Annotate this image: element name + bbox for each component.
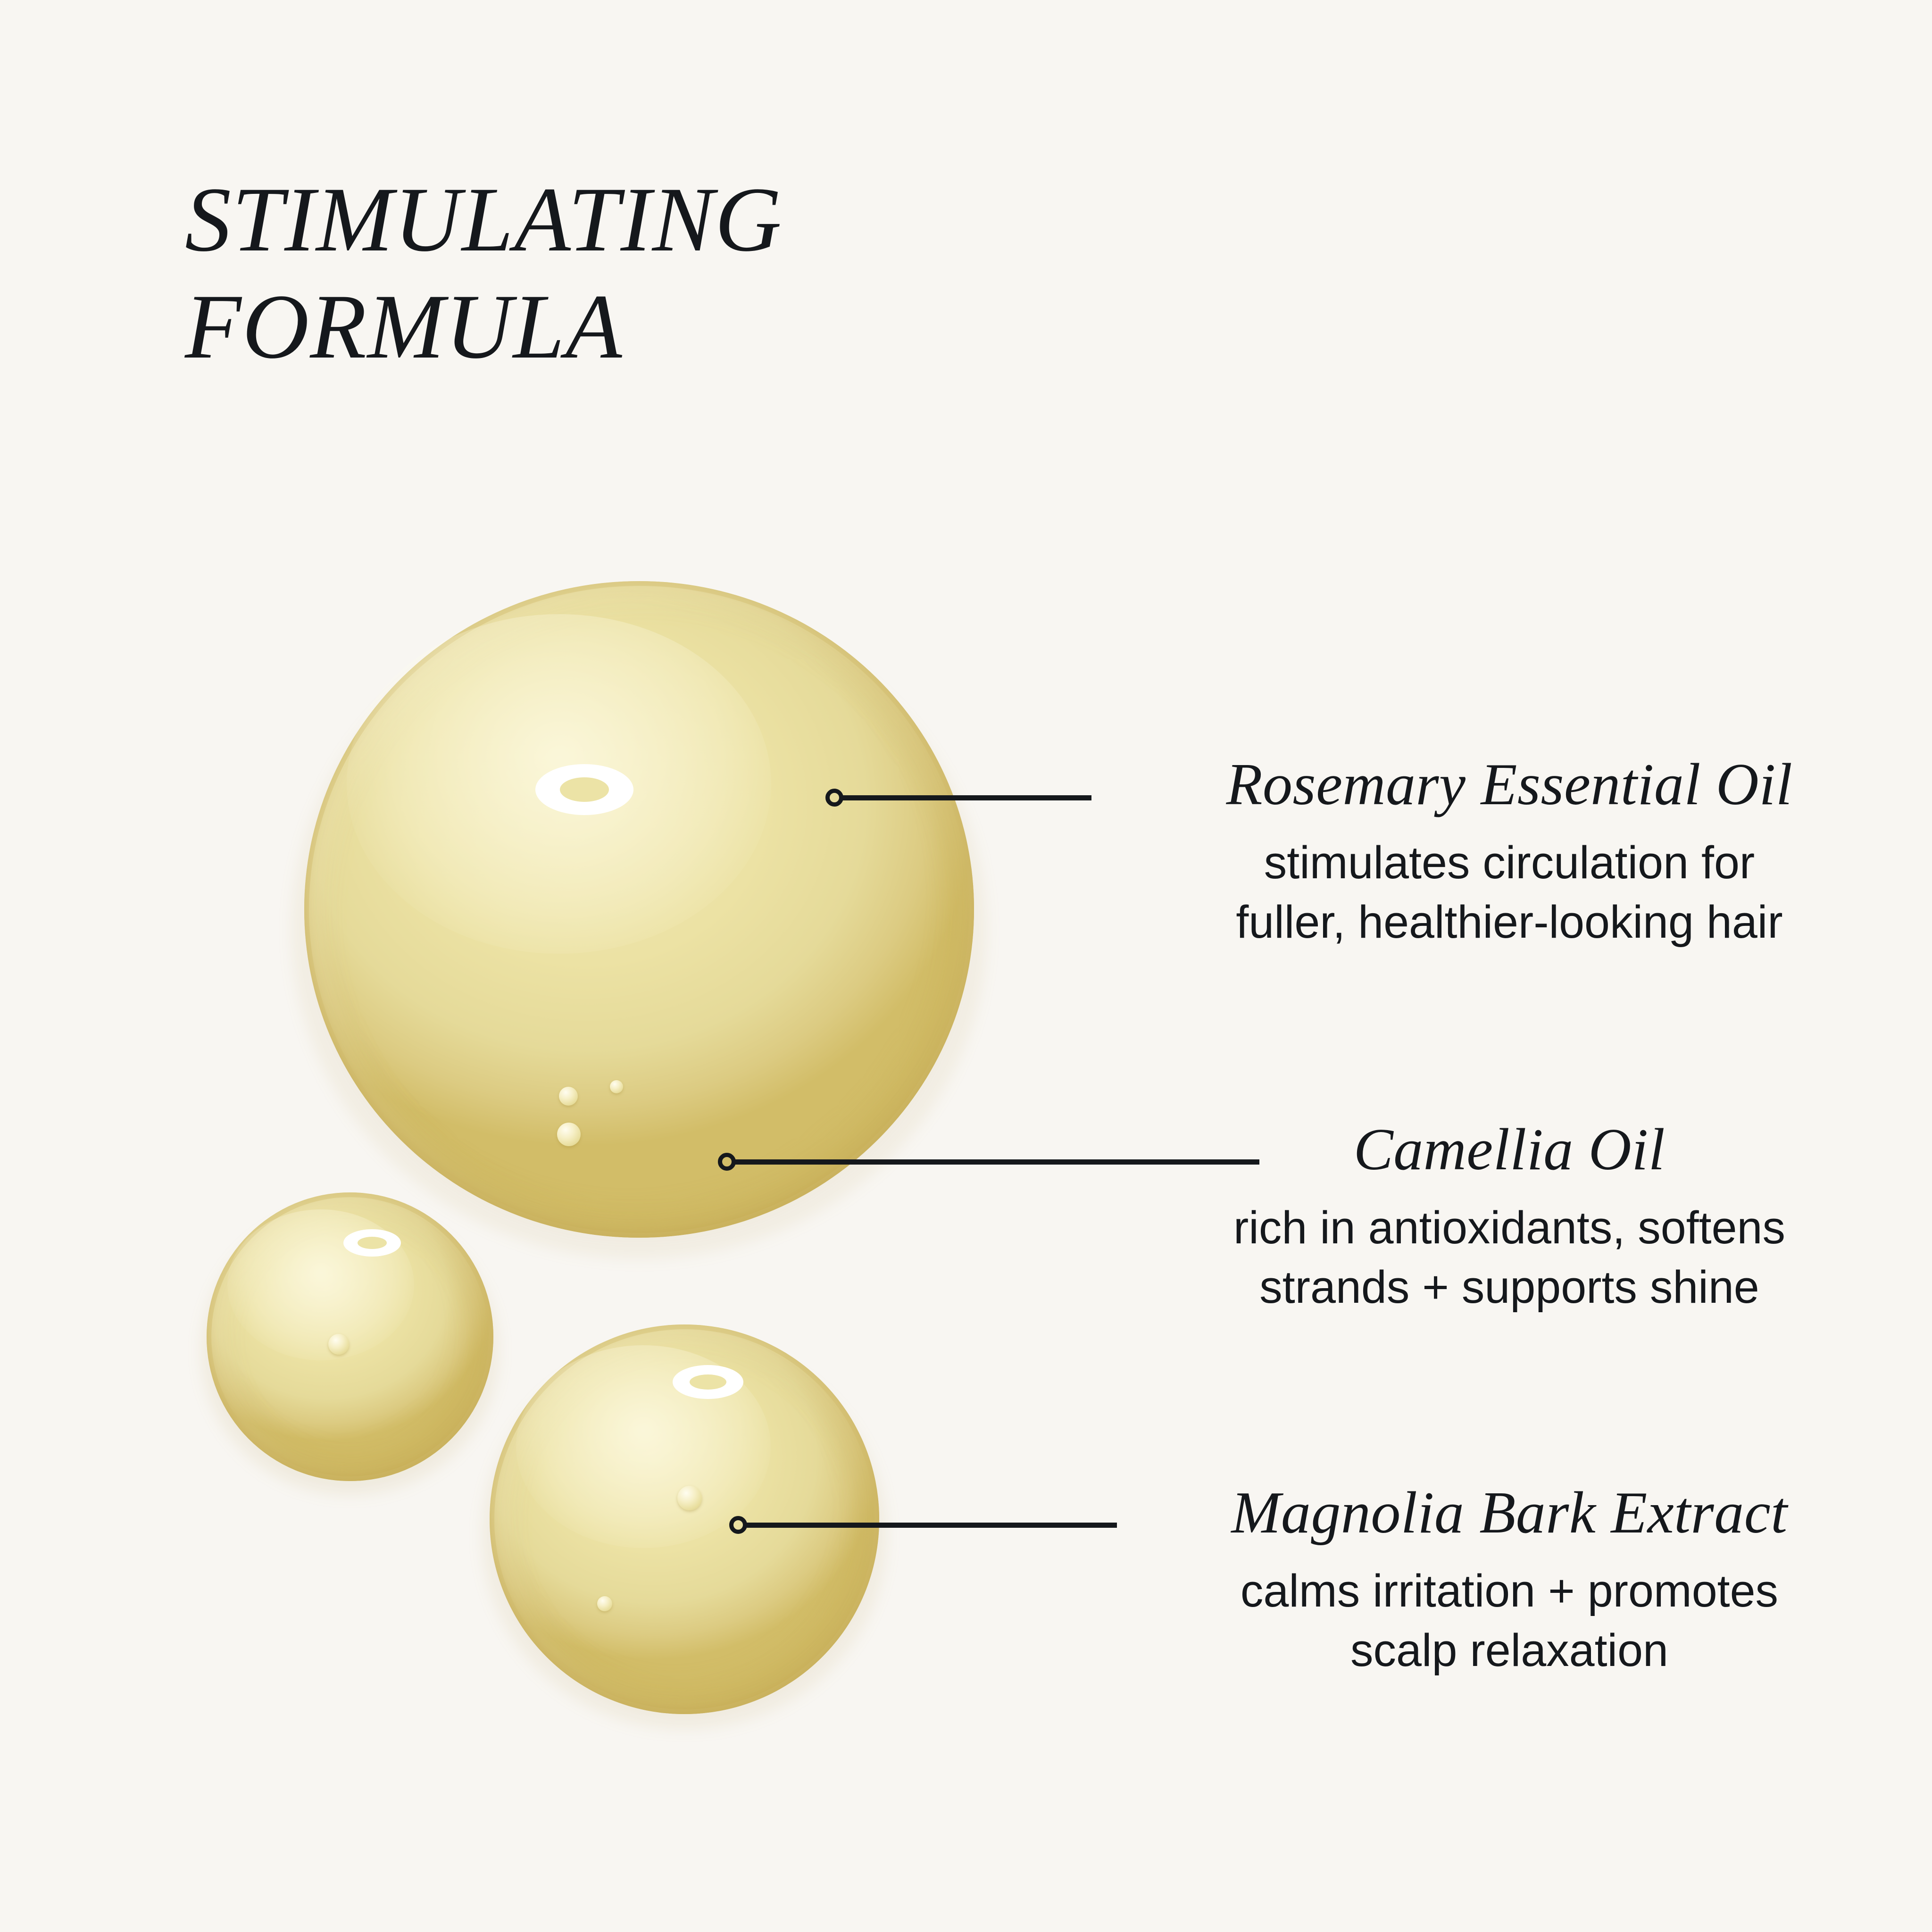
droplet-highlight-icon	[343, 1229, 401, 1257]
droplet-bubble	[597, 1596, 612, 1611]
callout-leader-magnolia	[746, 1523, 1117, 1528]
droplet-bubble	[610, 1080, 623, 1093]
oil-droplet-bottom	[490, 1324, 879, 1714]
ingredient-infographic: STIMULATING FORMULA	[0, 0, 1932, 1932]
callout-rosemary: Rosemary Essential Oil stimulates circul…	[1141, 753, 1877, 952]
callout-camellia: Camellia Oil rich in antioxidants, softe…	[1141, 1118, 1877, 1317]
callout-marker-rosemary[interactable]	[825, 789, 843, 807]
callout-leader-rosemary	[842, 795, 1091, 800]
droplet-bubble	[677, 1486, 702, 1510]
callout-title-rosemary: Rosemary Essential Oil	[1141, 753, 1877, 817]
highlight-hole	[560, 777, 609, 802]
oil-droplet-large	[304, 581, 974, 1238]
droplet-highlight-icon	[673, 1365, 743, 1399]
callout-title-magnolia: Magnolia Bark Extract	[1141, 1481, 1877, 1545]
callout-marker-magnolia[interactable]	[729, 1516, 747, 1534]
oil-droplet-small	[207, 1192, 493, 1481]
callout-marker-camellia[interactable]	[718, 1153, 736, 1171]
droplet-bubble	[559, 1087, 578, 1106]
callout-description-rosemary: stimulates circulation for fuller, healt…	[1141, 833, 1877, 952]
droplet-highlight-icon	[535, 764, 633, 815]
highlight-hole	[358, 1237, 387, 1249]
droplet-bubble	[328, 1334, 349, 1355]
droplet-bubble	[557, 1123, 581, 1146]
page-title: STIMULATING FORMULA	[185, 166, 1223, 381]
callout-description-camellia: rich in antioxidants, softens strands + …	[1141, 1198, 1877, 1317]
callout-title-camellia: Camellia Oil	[1141, 1118, 1877, 1182]
callout-description-magnolia: calms irritation + promotes scalp relaxa…	[1141, 1561, 1877, 1680]
highlight-hole	[690, 1374, 726, 1390]
callout-magnolia: Magnolia Bark Extract calms irritation +…	[1141, 1481, 1877, 1680]
